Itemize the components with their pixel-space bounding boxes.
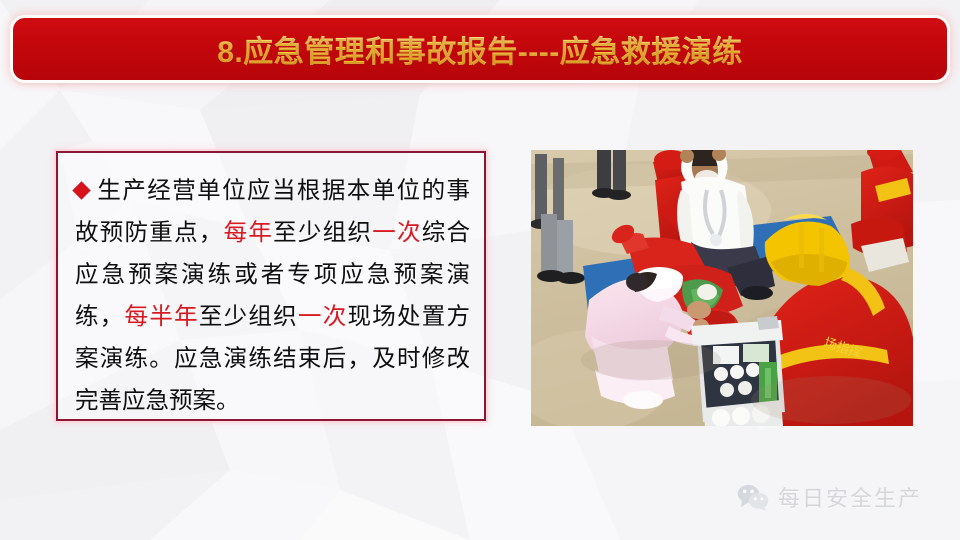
rescue-drill-photo: 场指挥 (531, 150, 913, 426)
segment-7-highlight: 一次 (298, 302, 348, 330)
watermark-text: 每日安全生产 (778, 481, 922, 513)
watermark: 每日安全生产 (737, 481, 922, 513)
segment-3-highlight: 一次 (372, 218, 422, 246)
wechat-icon (737, 484, 769, 511)
segment-1-highlight: 每年 (224, 218, 274, 246)
segment-5-highlight: 每半年 (125, 302, 199, 330)
bullet-paragraph: 生产经营单位应当根据本单位的事故预防重点，每年至少组织一次综合应急预案演练或者专… (58, 153, 484, 421)
content-text-box: 生产经营单位应当根据本单位的事故预防重点，每年至少组织一次综合应急预案演练或者专… (56, 151, 486, 421)
diamond-bullet-icon (72, 181, 90, 199)
segment-2: 至少组织 (273, 218, 372, 246)
presentation-slide: 8.应急管理和事故报告----应急救援演练 生产经营单位应当根据本单位的事故预防… (0, 0, 960, 540)
segment-6: 至少组织 (199, 302, 298, 330)
page-title: 8.应急管理和事故报告----应急救援演练 (217, 27, 742, 71)
slide-title-banner: 8.应急管理和事故报告----应急救援演练 (13, 18, 947, 80)
